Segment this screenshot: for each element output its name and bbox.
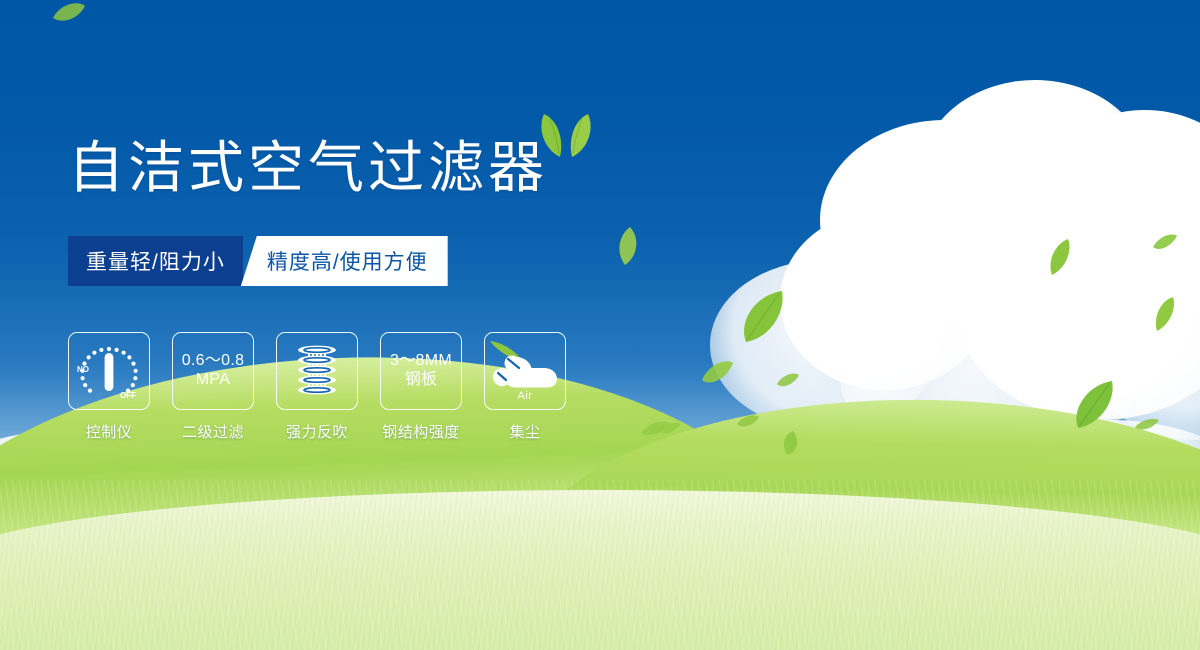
floating-leaf-icon: [52, 2, 86, 24]
feature-text-line2: MPA: [182, 371, 245, 390]
subtitle-left: 重量轻/阻力小: [68, 236, 243, 286]
feature-icon-box: 3～8MM 钢板: [380, 332, 462, 410]
feature-item-steel[interactable]: 3～8MM 钢板 钢结构强度: [380, 332, 462, 442]
feature-text-line1: 0.6～0.8: [182, 352, 245, 369]
feature-list: NO OFF 控制仪 0.6～0.8 MPA 二级过滤: [68, 332, 566, 442]
subtitle-right: 精度高/使用方便: [241, 236, 448, 286]
dial-off-label: OFF: [120, 391, 136, 400]
pressure-value-icon: 0.6～0.8 MPA: [182, 352, 245, 390]
product-banner: 自洁式空气过滤器 重量轻/阻力小 精度高/使用方便: [0, 0, 1200, 650]
coil-filter-icon: [287, 341, 347, 401]
air-caption: Air: [485, 390, 565, 402]
feature-text-line1: 3～8MM: [390, 352, 452, 369]
feature-label: 强力反吹: [286, 421, 348, 442]
feature-label: 集尘: [509, 421, 540, 442]
feature-item-blowback[interactable]: 强力反吹: [276, 332, 358, 442]
floating-leaf-icon: [614, 226, 642, 266]
field-foreground: [0, 490, 1200, 650]
cloud-air-icon: [486, 337, 564, 397]
feature-item-pressure[interactable]: 0.6～0.8 MPA 二级过滤: [172, 332, 254, 442]
gauge-dial-icon: NO OFF: [73, 339, 145, 403]
feature-icon-box: Air: [484, 332, 566, 410]
grass-field: [0, 480, 1200, 650]
feature-icon-box: NO OFF: [68, 332, 150, 410]
subtitle-bar: 重量轻/阻力小 精度高/使用方便: [68, 236, 464, 286]
feature-item-dust[interactable]: Air 集尘: [484, 332, 566, 442]
feature-icon-box: [276, 332, 358, 410]
dial-no-label: NO: [77, 365, 89, 374]
cloud-large-right: [780, 90, 1200, 420]
feature-item-controller[interactable]: NO OFF 控制仪: [68, 332, 150, 442]
feature-label: 钢结构强度: [382, 421, 460, 442]
page-title: 自洁式空气过滤器: [68, 140, 548, 196]
feature-text-line2: 钢板: [390, 371, 452, 390]
feature-icon-box: 0.6～0.8 MPA: [172, 332, 254, 410]
steel-plate-icon: 3～8MM 钢板: [390, 352, 452, 390]
feature-label: 控制仪: [86, 421, 133, 442]
feature-label: 二级过滤: [182, 421, 244, 442]
